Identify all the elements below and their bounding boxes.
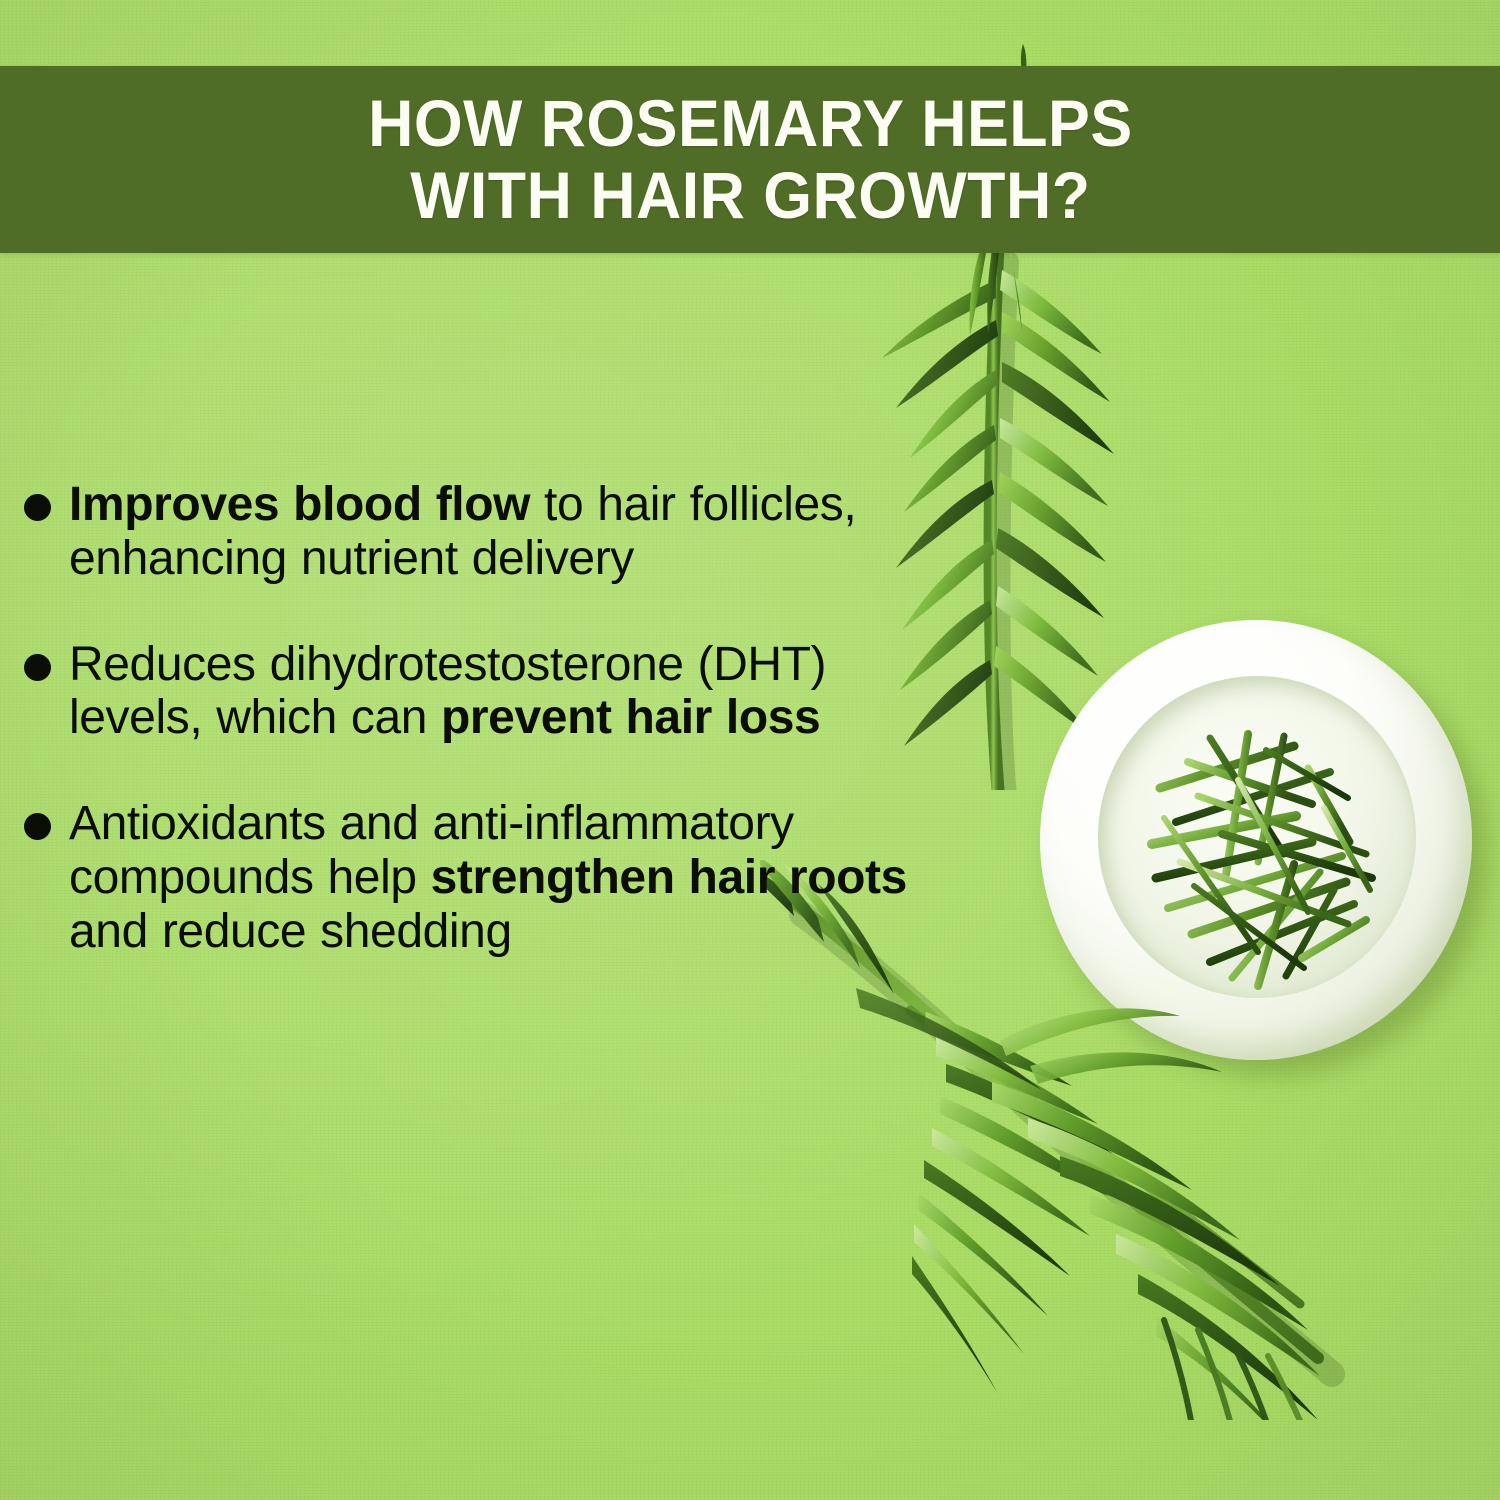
list-item: Reduces dihydrotestosterone (DHT) levels… — [24, 638, 964, 746]
benefits-list: Improves blood flow to hair follicles, e… — [24, 478, 964, 1010]
bowl-outer — [1040, 620, 1472, 1060]
bullet-circle-icon — [24, 494, 51, 521]
benefit-text-antioxidants: Antioxidants and anti-inflammatory compo… — [69, 797, 964, 958]
list-item: Improves blood flow to hair follicles, e… — [24, 478, 964, 586]
list-item: Antioxidants and anti-inflammatory compo… — [24, 797, 964, 958]
bullet-circle-icon — [24, 654, 51, 681]
page-title: HOW ROSEMARY HELPS WITH HAIR GROWTH? — [349, 88, 1152, 231]
infographic-poster: HOW ROSEMARY HELPS WITH HAIR GROWTH? Imp… — [0, 0, 1500, 1500]
bullet-circle-icon — [24, 813, 51, 840]
bowl-rosemary-needles-icon — [1098, 676, 1416, 998]
bowl-interior — [1098, 676, 1416, 998]
title-banner: HOW ROSEMARY HELPS WITH HAIR GROWTH? — [0, 66, 1500, 253]
benefit-text-dht-levels: Reduces dihydrotestosterone (DHT) levels… — [69, 638, 964, 746]
benefit-text-blood-flow: Improves blood flow to hair follicles, e… — [69, 478, 964, 586]
